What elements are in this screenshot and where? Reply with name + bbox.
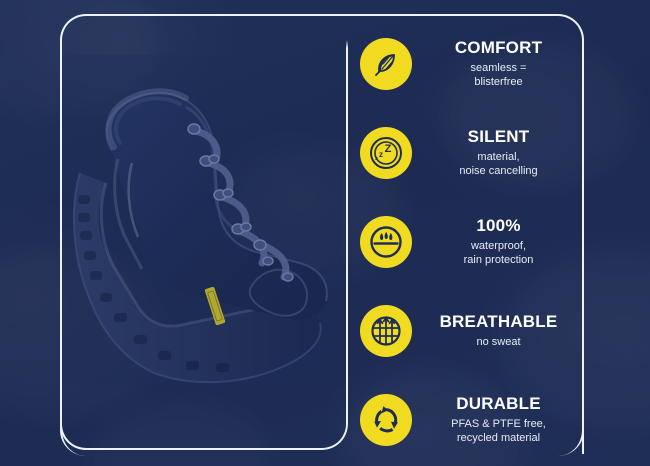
feature-text-breathable: BREATHABLE no sweat bbox=[424, 313, 575, 350]
feature-row-silent[interactable]: Z z z SILENT material, noise cancelling bbox=[360, 115, 575, 191]
feature-subtitle: no sweat bbox=[424, 335, 573, 349]
feature-text-comfort: COMFORT seamless = blisterfree bbox=[424, 39, 575, 90]
feature-text-silent: SILENT material, noise cancelling bbox=[424, 128, 575, 179]
feather-icon bbox=[360, 38, 412, 90]
feature-row-waterproof[interactable]: 100% waterproof, rain protection bbox=[360, 204, 575, 280]
infographic-canvas: COMFORT seamless = blisterfree Z z z SIL… bbox=[0, 0, 650, 466]
feature-title: SILENT bbox=[424, 128, 573, 147]
feature-text-waterproof: 100% waterproof, rain protection bbox=[424, 217, 575, 268]
feature-title: COMFORT bbox=[424, 39, 573, 58]
svg-text:z: z bbox=[375, 156, 378, 162]
feature-text-durable: DURABLE PFAS & PTFE free, recycled mater… bbox=[424, 395, 575, 446]
product-image-hiking-boot bbox=[62, 55, 342, 385]
feature-list: COMFORT seamless = blisterfree Z z z SIL… bbox=[360, 26, 575, 458]
feature-subtitle: seamless = blisterfree bbox=[424, 61, 573, 89]
card-right-edge bbox=[582, 40, 584, 454]
feature-title: 100% bbox=[424, 217, 573, 236]
feature-row-durable[interactable]: DURABLE PFAS & PTFE free, recycled mater… bbox=[360, 382, 575, 458]
breathable-mesh-icon bbox=[360, 305, 412, 357]
water-droplets-icon bbox=[360, 216, 412, 268]
feature-title: DURABLE bbox=[424, 395, 573, 414]
background-blob bbox=[90, 400, 270, 466]
feature-title: BREATHABLE bbox=[424, 313, 573, 332]
card-bottom-left-corner bbox=[60, 396, 90, 450]
svg-text:Z: Z bbox=[385, 143, 392, 155]
feature-subtitle: PFAS & PTFE free, recycled material bbox=[424, 417, 573, 445]
recycle-arrows-icon bbox=[360, 394, 412, 446]
feature-row-breathable[interactable]: BREATHABLE no sweat bbox=[360, 293, 575, 369]
feature-row-comfort[interactable]: COMFORT seamless = blisterfree bbox=[360, 26, 575, 102]
feature-subtitle: waterproof, rain protection bbox=[424, 239, 573, 267]
feature-subtitle: material, noise cancelling bbox=[424, 150, 573, 178]
sleeping-zzz-icon: Z z z bbox=[360, 127, 412, 179]
svg-text:z: z bbox=[379, 150, 383, 159]
